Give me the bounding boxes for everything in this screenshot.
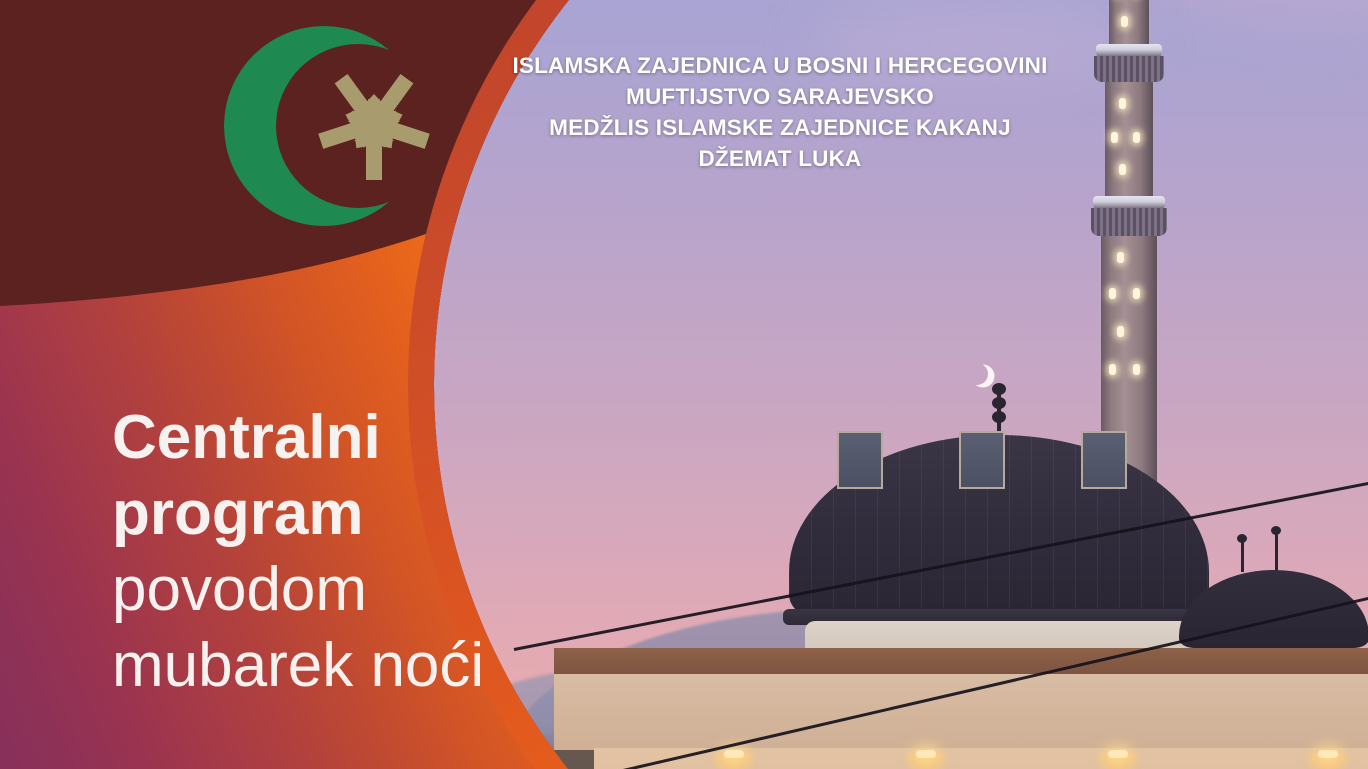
header-line-3: MEDŽLIS ISLAMSKE ZAJEDNICE KAKANJ xyxy=(470,112,1090,143)
minaret-light xyxy=(1109,288,1116,299)
drum-window xyxy=(837,431,883,489)
minaret-light xyxy=(1109,364,1116,375)
minaret-shaft-upper xyxy=(1109,0,1149,49)
secondary-dome-finial xyxy=(1241,538,1244,572)
minaret-light xyxy=(1121,16,1128,27)
minaret-light xyxy=(1133,132,1140,143)
mosque-parapet xyxy=(554,648,1368,676)
facade-lamp xyxy=(916,750,936,758)
title-line-4: mubarek noći xyxy=(112,628,542,704)
minaret-balcony-mid xyxy=(1094,56,1164,82)
minaret-light xyxy=(1117,252,1124,263)
minaret-light xyxy=(1119,98,1126,109)
minaret-light xyxy=(1133,288,1140,299)
title-line-3: povodom xyxy=(112,552,542,628)
drum-window xyxy=(959,431,1005,489)
minaret-light xyxy=(1117,326,1124,337)
facade-lamp xyxy=(724,750,744,758)
mosque-roof-band xyxy=(554,674,1368,750)
title-line-1: Centralni xyxy=(112,400,542,476)
secondary-dome-finial-ball xyxy=(1271,526,1281,535)
header-line-1: ISLAMSKA ZAJEDNICA U BOSNI I HERCEGOVINI xyxy=(470,50,1090,81)
drum-window xyxy=(1081,431,1127,489)
facade-lamp xyxy=(1108,750,1128,758)
poster-title: Centralni program povodom mubarek noći xyxy=(112,400,542,704)
crescent-moon-icon xyxy=(966,363,988,385)
bare-tree xyxy=(1314,708,1368,769)
islamska-zajednica-logo xyxy=(222,16,452,236)
minaret-light xyxy=(1119,164,1126,175)
dome-finial-ball xyxy=(992,383,1006,395)
poster-root: ISLAMSKA ZAJEDNICA U BOSNI I HERCEGOVINI… xyxy=(0,0,1368,769)
organization-header: ISLAMSKA ZAJEDNICA U BOSNI I HERCEGOVINI… xyxy=(470,50,1090,174)
dome-finial-ball xyxy=(992,411,1006,423)
secondary-dome-finial xyxy=(1275,530,1278,572)
secondary-dome-finial-ball xyxy=(1237,534,1247,543)
dome-finial-ball xyxy=(992,397,1006,409)
header-line-4: DŽEMAT LUKA xyxy=(470,143,1090,174)
header-line-2: MUFTIJSTVO SARAJEVSKO xyxy=(470,81,1090,112)
minaret-light xyxy=(1133,364,1140,375)
minaret-light xyxy=(1111,132,1118,143)
minaret-balcony-lower xyxy=(1091,208,1167,236)
main-dome-group xyxy=(789,413,1209,673)
title-line-2: program xyxy=(112,476,542,552)
